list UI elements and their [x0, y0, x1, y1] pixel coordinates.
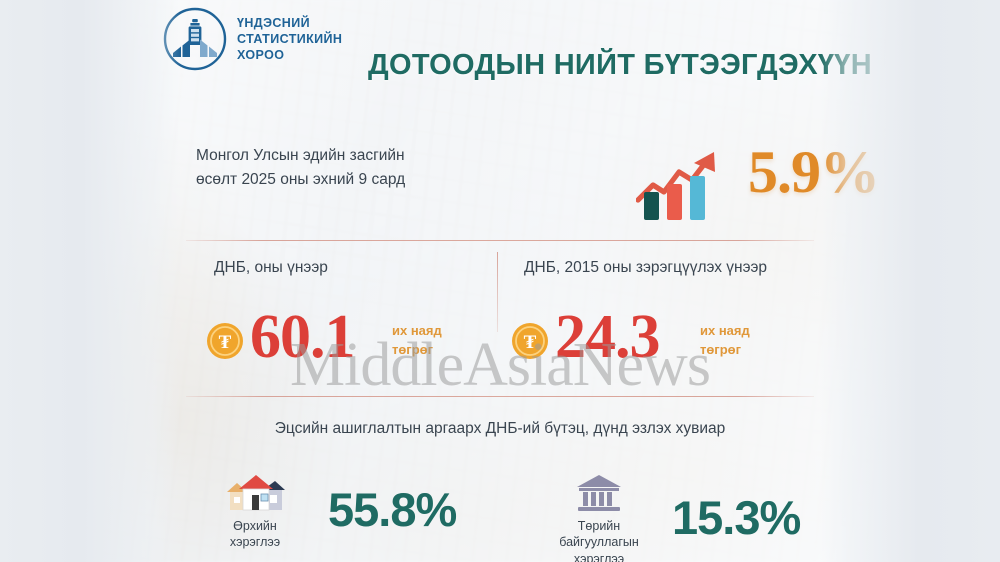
growth-row: Монгол Улсын эдийн засгийн өсөлт 2025 он…: [196, 140, 816, 226]
gdp-constant-unit-line2: төгрөг: [700, 342, 741, 357]
government-icon-block: Төрийн байгууллагын хэрэглээ: [540, 468, 658, 562]
gdp-current-value: 60.1: [250, 306, 355, 368]
structure-item-government: Төрийн байгууллагын хэрэглээ 15.3%: [540, 468, 800, 562]
growth-value: 5.9%: [748, 138, 879, 207]
gdp-constant-unit: их наяд төгрөг: [700, 322, 750, 360]
household-value: 55.8%: [328, 482, 456, 537]
bar-chart-up-icon: [636, 142, 718, 222]
divider-bottom: [186, 396, 814, 397]
divider-top: [186, 240, 814, 241]
divider-vertical: [497, 252, 498, 332]
structure-item-household: Өрхийн хэрэглээ 55.8%: [196, 468, 456, 551]
arrow-up-icon: [941, 150, 975, 216]
government-caption-line2: хэрэглээ: [574, 552, 624, 562]
structure-subtitle: Эцсийн ашиглалтын аргаарх ДНБ-ий бүтэц, …: [186, 420, 814, 438]
gdp-current-unit-line2: төгрөг: [392, 342, 433, 357]
gdp-current-unit: их наяд төгрөг: [392, 322, 442, 360]
infographic-poster: ҮНДЭСНИЙ СТАТИСТИКИЙН ХОРОО ДОТООДЫН НИЙ…: [0, 0, 1000, 562]
org-line-3: ХОРОО: [237, 48, 284, 62]
household-icon-block: Өрхийн хэрэглээ: [196, 468, 314, 551]
nso-emblem-icon: [162, 6, 228, 72]
org-line-2: СТАТИСТИКИЙН: [237, 32, 342, 46]
poster-content: ҮНДЭСНИЙ СТАТИСТИКИЙН ХОРОО ДОТООДЫН НИЙ…: [0, 0, 1000, 562]
household-caption: Өрхийн хэрэглээ: [230, 518, 280, 551]
growth-description: Монгол Улсын эдийн засгийн өсөлт 2025 он…: [196, 144, 426, 191]
government-building-icon: [575, 468, 623, 514]
gdp-constant-value: 24.3: [555, 306, 660, 368]
org-line-1: ҮНДЭСНИЙ: [237, 16, 310, 30]
organization-logo: ҮНДЭСНИЙ СТАТИСТИКИЙН ХОРОО: [162, 6, 342, 72]
tugrik-coin-icon: ₮: [206, 322, 244, 360]
government-caption-line1: Төрийн байгууллагын: [559, 519, 639, 549]
government-value: 15.3%: [672, 490, 800, 545]
gdp-constant-unit-line1: их наяд: [700, 323, 750, 338]
tugrik-coin-icon: ₮: [511, 322, 549, 360]
gdp-current-unit-line1: их наяд: [392, 323, 442, 338]
house-icon: [223, 468, 287, 514]
government-caption: Төрийн байгууллагын хэрэглээ: [540, 518, 658, 562]
gdp-constant-label: ДНБ, 2015 оны зэрэгцүүлэх үнээр: [524, 259, 767, 277]
page-title: ДОТООДЫН НИЙТ БҮТЭЭГДЭХҮҮН: [360, 49, 880, 82]
household-caption-line2: хэрэглээ: [230, 535, 280, 549]
svg-text:₮: ₮: [219, 332, 232, 353]
household-caption-line1: Өрхийн: [233, 519, 277, 533]
organization-name: ҮНДЭСНИЙ СТАТИСТИКИЙН ХОРОО: [237, 15, 342, 64]
gdp-current-label: ДНБ, оны үнээр: [214, 259, 328, 277]
svg-text:₮: ₮: [524, 332, 537, 353]
